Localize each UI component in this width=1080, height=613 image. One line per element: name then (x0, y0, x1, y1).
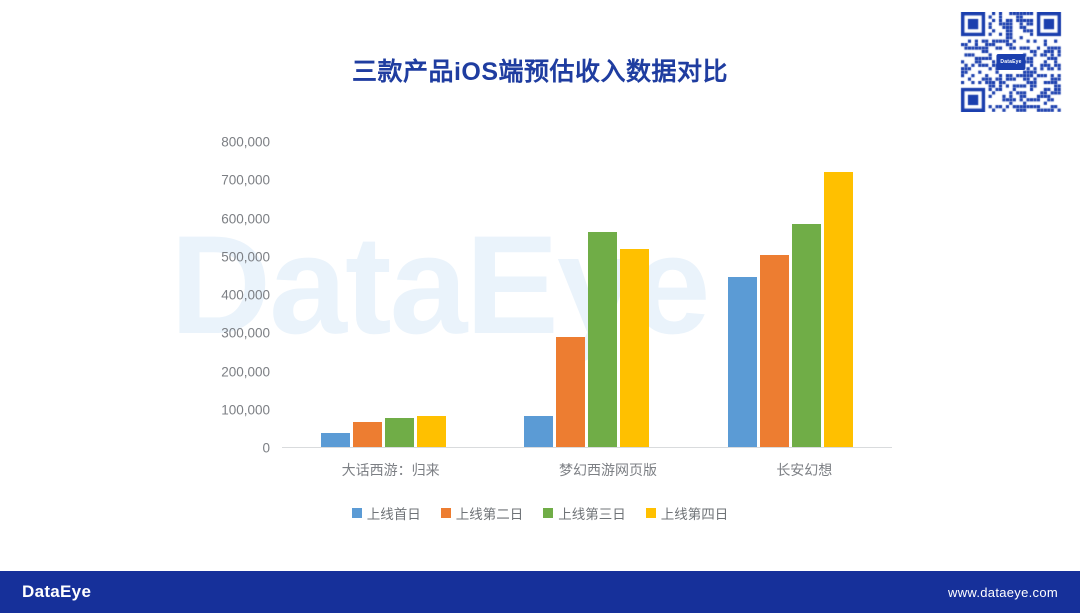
x-axis-label: 长安幻想 (776, 460, 832, 480)
bar-group (524, 142, 649, 447)
y-axis: 800,000700,000600,000500,000400,000300,0… (196, 130, 270, 450)
y-axis-tick: 0 (262, 441, 270, 456)
bar-3[interactable] (620, 249, 649, 447)
y-axis-tick: 200,000 (221, 364, 270, 379)
x-axis-label: 梦幻西游网页版 (559, 460, 657, 480)
legend-item[interactable]: 上线第四日 (646, 503, 729, 523)
x-axis-label: 大话西游：归来 (342, 460, 440, 480)
y-axis-tick: 700,000 (221, 173, 270, 188)
bar-1[interactable] (556, 337, 585, 447)
legend-item[interactable]: 上线第三日 (543, 503, 626, 523)
bar-0[interactable] (524, 416, 553, 447)
bar-1[interactable] (353, 422, 382, 447)
chart-page: DataEye 三款产品iOS端预估收入数据对比 DataEye 800,000… (0, 0, 1080, 613)
y-axis-tick: 800,000 (221, 135, 270, 150)
y-axis-tick: 400,000 (221, 288, 270, 303)
bar-3[interactable] (824, 172, 853, 447)
bar-0[interactable] (321, 433, 350, 447)
legend-swatch-icon (352, 508, 362, 518)
chart-plot-area: 800,000700,000600,000500,000400,000300,0… (0, 130, 1080, 490)
bar-0[interactable] (728, 277, 757, 447)
bar-group (321, 142, 446, 447)
y-axis-tick: 600,000 (221, 211, 270, 226)
bar-2[interactable] (792, 224, 821, 447)
axis-baseline (282, 447, 892, 448)
legend-label: 上线第四日 (661, 503, 729, 523)
bar-2[interactable] (588, 232, 617, 447)
footer-logo: DataEye (22, 582, 91, 602)
bar-2[interactable] (385, 418, 414, 447)
legend-swatch-icon (441, 508, 451, 518)
legend-label: 上线第二日 (456, 503, 524, 523)
page-title: 三款产品iOS端预估收入数据对比 (0, 52, 1080, 88)
chart-legend: 上线首日上线第二日上线第三日上线第四日 (0, 503, 1080, 523)
bar-1[interactable] (760, 255, 789, 447)
y-axis-tick: 300,000 (221, 326, 270, 341)
legend-item[interactable]: 上线首日 (352, 503, 421, 523)
legend-label: 上线第三日 (558, 503, 626, 523)
bars-container (282, 142, 892, 448)
footer-url[interactable]: www.dataeye.com (948, 585, 1058, 600)
bar-3[interactable] (417, 416, 446, 447)
legend-swatch-icon (646, 508, 656, 518)
bar-groups (282, 142, 892, 447)
legend-label: 上线首日 (367, 503, 421, 523)
bar-group (728, 142, 853, 447)
y-axis-tick: 500,000 (221, 249, 270, 264)
legend-swatch-icon (543, 508, 553, 518)
x-axis-labels: 大话西游：归来梦幻西游网页版长安幻想 (282, 460, 892, 480)
y-axis-tick: 100,000 (221, 402, 270, 417)
page-footer: DataEye www.dataeye.com (0, 571, 1080, 613)
legend-item[interactable]: 上线第二日 (441, 503, 524, 523)
